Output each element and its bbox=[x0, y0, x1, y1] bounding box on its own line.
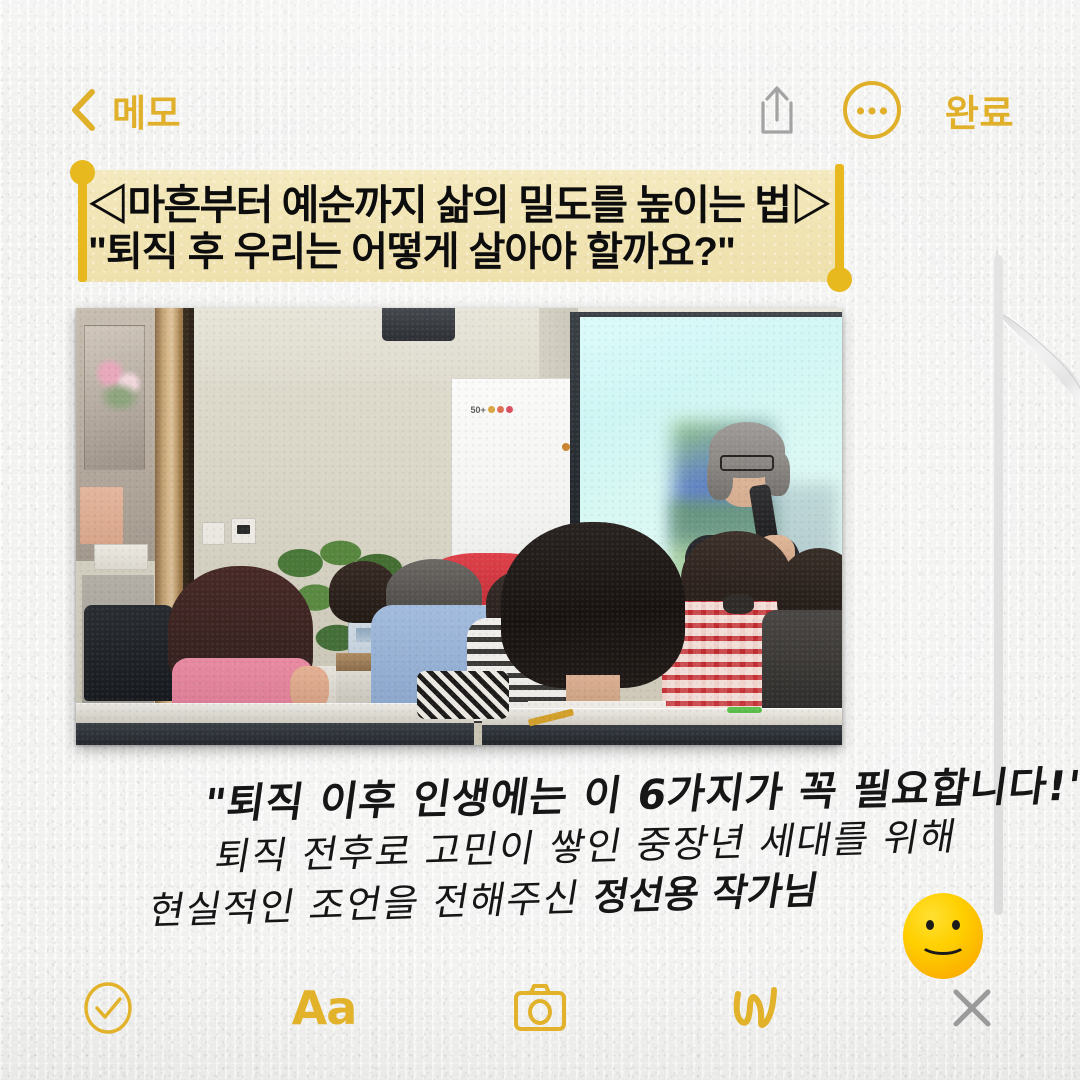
photo-audience-body-6-dark bbox=[762, 610, 842, 715]
done-button[interactable]: 완료 bbox=[945, 83, 1014, 137]
photo-whiteboard-logo: 50+ bbox=[470, 398, 554, 422]
back-button-label: 메모 bbox=[112, 83, 181, 137]
photo-desk-left-front bbox=[76, 723, 474, 745]
photo-logo-dot-orange bbox=[497, 406, 504, 413]
camera-button[interactable] bbox=[432, 983, 648, 1033]
photo-backpack bbox=[84, 605, 176, 701]
handwriting-line-3-prefix: 현실적인 조언을 전해주신 bbox=[146, 875, 597, 933]
back-button[interactable]: 메모 bbox=[70, 83, 181, 137]
top-bar-actions: 완료 bbox=[755, 79, 1014, 141]
note-title-line-2: "퇴직 후 우리는 어떻게 살아야 할까요?" bbox=[88, 232, 836, 272]
text-format-icon: Aa bbox=[292, 981, 357, 1035]
share-icon[interactable] bbox=[755, 84, 799, 136]
top-navigation-bar: 메모 완료 bbox=[0, 66, 1080, 154]
smiley-eye-left bbox=[926, 920, 934, 930]
smiley-mouth bbox=[919, 931, 967, 955]
close-button[interactable] bbox=[864, 982, 1080, 1034]
photo-desk-right-front bbox=[482, 725, 842, 745]
photo-audience-head-4-foreground bbox=[501, 522, 685, 688]
photo-logo-dot-red bbox=[506, 406, 513, 413]
lecture-photo[interactable]: 50+ 서울 bbox=[76, 308, 842, 745]
photo-ceiling-speaker bbox=[382, 308, 455, 341]
photo-logo-dot-yellow bbox=[488, 406, 495, 413]
photo-desk-left bbox=[76, 703, 474, 723]
photo-cabinet-poster bbox=[80, 487, 123, 544]
chevron-left-icon bbox=[70, 89, 96, 131]
note-title-line-1: ◁마흔부터 예순까지 삶의 밀도를 높이는 법▷ bbox=[88, 185, 836, 226]
camera-icon bbox=[511, 983, 569, 1033]
handwriting-author-name: 정선용 작가님 bbox=[590, 868, 821, 919]
photo-flower-green bbox=[99, 382, 141, 413]
photo-green-marker bbox=[727, 707, 761, 713]
photo-thermostat bbox=[231, 518, 256, 544]
photo-whiteboard-logo-text: 50+ bbox=[470, 405, 485, 415]
markup-pen-button[interactable] bbox=[648, 982, 864, 1034]
photo-patterned-bag bbox=[417, 671, 509, 719]
checklist-button[interactable] bbox=[0, 981, 216, 1035]
photo-audience-collar-5 bbox=[723, 594, 754, 614]
close-icon bbox=[946, 982, 998, 1034]
photo-wall-switch bbox=[202, 522, 224, 545]
photo-cabinet-cards bbox=[94, 544, 148, 570]
ellipsis-circle-icon[interactable] bbox=[841, 79, 903, 141]
note-title-text: ◁마흔부터 예순까지 삶의 밀도를 높이는 법▷ "퇴직 후 우리는 어떻게 살… bbox=[66, 170, 856, 282]
photo-speaker-glasses bbox=[720, 455, 774, 471]
note-title-block: ◁마흔부터 예순까지 삶의 밀도를 높이는 법▷ "퇴직 후 우리는 어떻게 살… bbox=[66, 170, 856, 282]
markup-pen-icon bbox=[728, 982, 784, 1034]
smiley-eye-right bbox=[952, 920, 960, 930]
bottom-toolbar: Aa bbox=[0, 960, 1080, 1056]
text-format-button[interactable]: Aa bbox=[216, 981, 432, 1035]
checklist-icon bbox=[81, 981, 135, 1035]
